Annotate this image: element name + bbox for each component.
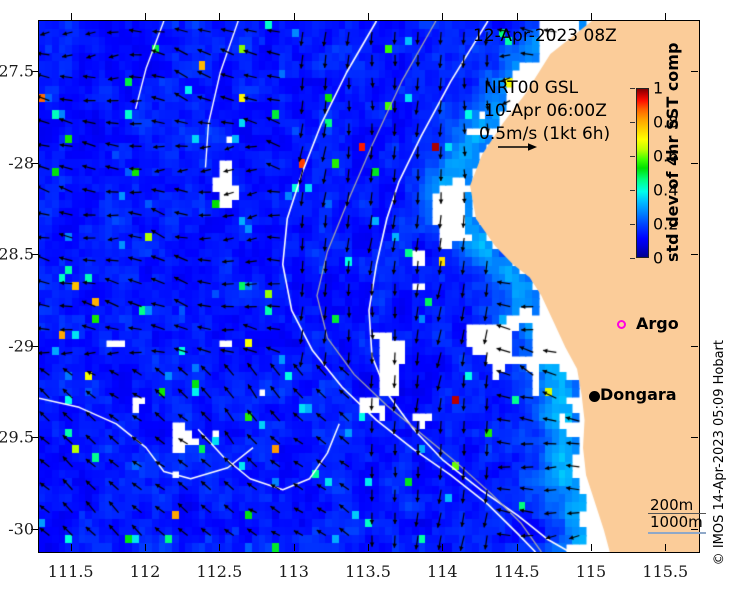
contour-1000m-label: 1000m [650, 513, 703, 531]
x-tick-label: 112 [130, 562, 161, 581]
x-tick [591, 544, 592, 551]
x-tick [665, 13, 666, 20]
x-tick [517, 13, 518, 20]
dongara-label: Dongara [600, 385, 677, 404]
x-tick-label: 114 [427, 562, 458, 581]
contour-200m-label: 200m [650, 496, 693, 514]
y-tick-label: -29.5 [0, 428, 34, 447]
x-tick [294, 544, 295, 551]
x-tick [665, 544, 666, 551]
dongara-marker-icon [589, 391, 600, 402]
colorbar-tick [630, 190, 635, 191]
figure-root: 111.5112112.5113113.5114114.5115115.5 -2… [0, 0, 740, 592]
reference-arrow-icon [497, 140, 537, 154]
x-tick [517, 544, 518, 551]
x-tick [294, 13, 295, 20]
y-tick [691, 346, 698, 347]
x-tick-label: 115 [576, 562, 607, 581]
colorbar-title: std dev of 4hr SST comp [663, 92, 682, 262]
colorbar-tick [630, 224, 635, 225]
x-tick-label: 115.5 [642, 562, 688, 581]
colorbar-tick-label: 0 [653, 249, 663, 268]
y-tick-label: -27.5 [0, 62, 34, 81]
source-time-label: 10-Apr 06:00Z [484, 101, 607, 121]
colorbar-tick [630, 156, 635, 157]
colorbar-tick [630, 122, 635, 123]
colorbar-tick [630, 88, 635, 89]
x-tick [219, 13, 220, 20]
y-tick [691, 437, 698, 438]
date-stamp-label: 12-Apr-2023 08Z [473, 26, 617, 46]
argo-marker-icon [617, 320, 626, 329]
map-plot-area[interactable] [38, 20, 700, 553]
y-tick [691, 71, 698, 72]
x-tick-label: 111.5 [48, 562, 94, 581]
x-tick [145, 544, 146, 551]
contour-1000m-line [648, 532, 706, 534]
x-tick [442, 544, 443, 551]
y-tick [691, 163, 698, 164]
colorbar-tick-label: 1 [653, 79, 663, 98]
y-tick-label: -28.5 [0, 245, 34, 264]
x-tick [71, 13, 72, 20]
x-tick [591, 13, 592, 20]
y-tick-label: -28 [8, 153, 34, 172]
x-tick-label: 113.5 [345, 562, 391, 581]
y-tick-label: -29 [8, 336, 34, 355]
argo-label: Argo [636, 314, 679, 333]
colorbar-tick [630, 258, 635, 259]
y-tick [691, 254, 698, 255]
x-tick [219, 544, 220, 551]
x-tick [145, 13, 146, 20]
credit-label: © IMOS 14-Apr-2023 05:09 Hobart [712, 340, 727, 565]
x-tick [368, 544, 369, 551]
colorbar [636, 88, 649, 258]
x-tick-label: 114.5 [494, 562, 540, 581]
x-tick [368, 13, 369, 20]
y-tick-label: -30 [8, 520, 34, 539]
x-tick [442, 13, 443, 20]
source-product-label: NRT00 GSL [484, 78, 578, 98]
x-tick [71, 544, 72, 551]
x-tick-label: 113 [278, 562, 309, 581]
x-tick-label: 112.5 [196, 562, 242, 581]
